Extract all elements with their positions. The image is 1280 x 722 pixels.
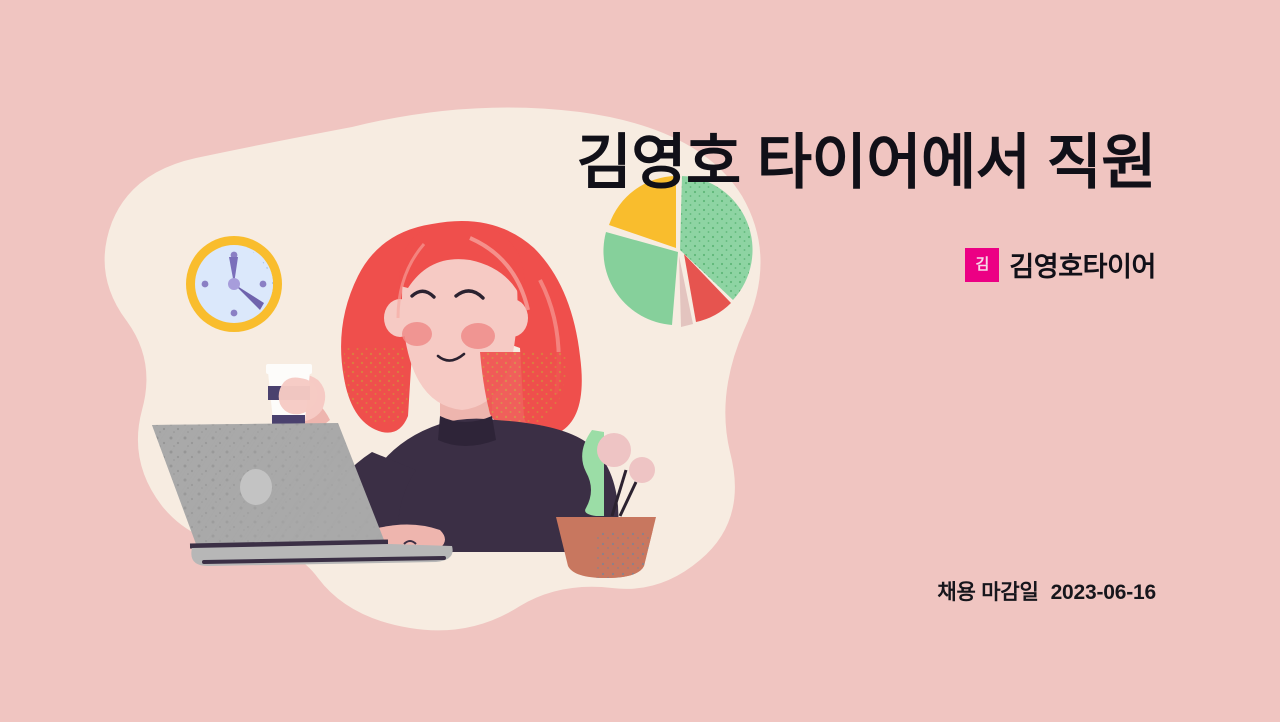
cup-lid — [266, 364, 312, 374]
cheek-left — [402, 322, 432, 346]
deadline-row: 채용 마감일 2023-06-16 — [937, 576, 1156, 606]
page-title: 김영호 타이어에서 직원 — [0, 128, 1156, 197]
job-posting-banner: 김영호 타이어에서 직원 김 김영호타이어 채용 마감일 2023-06-16 — [0, 0, 1280, 722]
banner-illustration — [0, 0, 1280, 722]
flower-ball-small — [629, 457, 655, 483]
ear-right — [496, 299, 528, 337]
laptop-logo — [240, 469, 272, 505]
company-row[interactable]: 김 김영호타이어 — [965, 245, 1156, 284]
cheek-right — [461, 323, 495, 349]
company-logo-badge: 김 — [965, 248, 999, 282]
deadline-label: 채용 마감일 — [937, 576, 1038, 606]
company-name: 김영호타이어 — [1009, 245, 1156, 284]
deadline-date: 2023-06-16 — [1051, 581, 1156, 605]
flower-ball-large — [597, 433, 631, 467]
wall-clock-icon — [186, 236, 282, 332]
